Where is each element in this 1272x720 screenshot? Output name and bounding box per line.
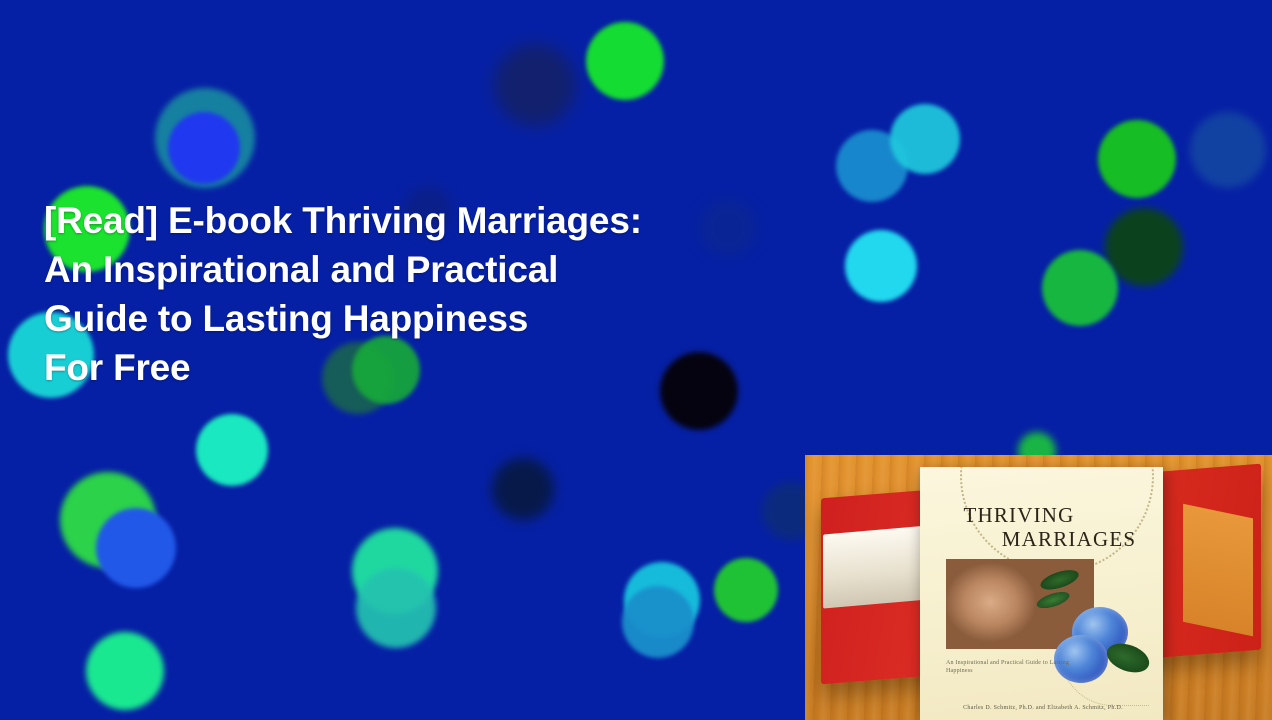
- bokeh-circle: [86, 632, 164, 710]
- bokeh-circle: [586, 22, 664, 100]
- cover-title: THRIVING MARRIAGES: [934, 505, 1152, 550]
- bokeh-circle: [890, 104, 960, 174]
- bokeh-circle: [168, 112, 240, 184]
- bokeh-circle: [492, 458, 554, 520]
- bokeh-circle: [494, 44, 576, 126]
- bokeh-circle: [1105, 208, 1183, 286]
- cover-subtitle: An Inspirational and Practical Guide to …: [946, 659, 1086, 675]
- book-cover-photo: THRIVING MARRIAGES An Inspirational and …: [805, 455, 1272, 720]
- thriving-marriages-cover: THRIVING MARRIAGES An Inspirational and …: [920, 467, 1163, 720]
- cover-title-line-1: THRIVING: [920, 505, 1152, 526]
- bokeh-circle: [1190, 112, 1266, 188]
- bokeh-circle: [622, 586, 694, 658]
- promo-image-canvas: [Read] E-book Thriving Marriages: An Ins…: [0, 0, 1272, 720]
- cover-authors: Charles D. Schmitz, Ph.D. and Elizabeth …: [936, 704, 1150, 712]
- bokeh-circle: [714, 558, 778, 622]
- bokeh-circle: [1042, 250, 1118, 326]
- book-page-edge: [1183, 504, 1253, 637]
- cover-title-line-2: MARRIAGES: [986, 529, 1152, 550]
- bokeh-circle: [96, 508, 176, 588]
- bokeh-circle: [845, 230, 917, 302]
- bokeh-circle: [1098, 120, 1176, 198]
- page-title: [Read] E-book Thriving Marriages: An Ins…: [44, 196, 784, 392]
- bokeh-circle: [356, 568, 436, 648]
- bokeh-circle: [196, 414, 268, 486]
